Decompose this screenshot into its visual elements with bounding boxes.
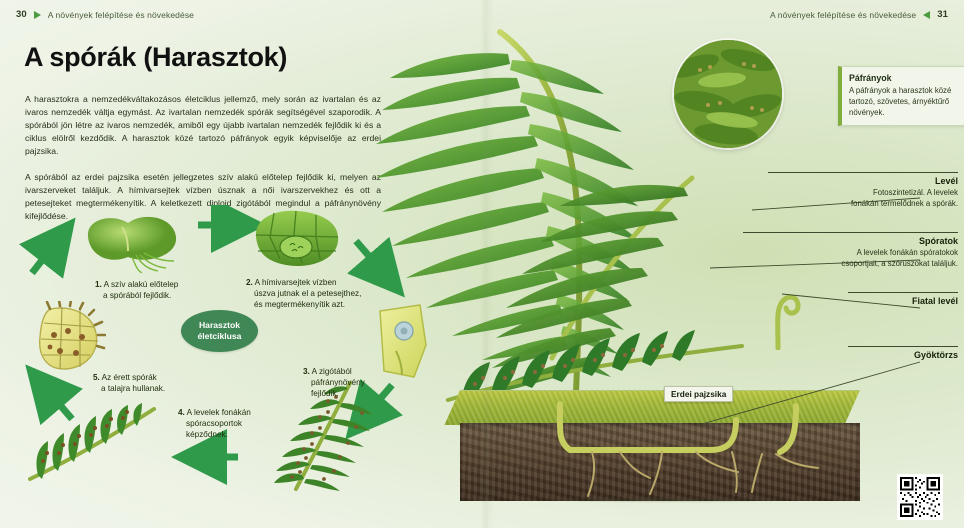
side-label-title: Gyöktörzs [848, 350, 958, 360]
step-number: 4. [178, 408, 185, 417]
step-number: 1. [95, 280, 102, 289]
step-line-3: fejlődik. [303, 389, 365, 400]
badge-line-1: Harasztok [199, 320, 240, 331]
rhizome-and-roots-icon [500, 400, 860, 510]
sporangium-illustration [30, 301, 106, 377]
cycle-step-1: 1. A szív alakú előtelep a spórából fejl… [95, 280, 178, 302]
cycle-step-3: 3. A zigótából páfránynövény fejlődik. [303, 367, 365, 399]
side-label-sporatok: Spóratok A levelek fonákán spóratokok cs… [743, 232, 958, 269]
step-number: 3. [303, 367, 310, 376]
page-number-right: 31 [937, 9, 948, 20]
side-label-desc: A levelek fonákán spóratokok csoportjait… [743, 248, 958, 269]
soil-block-cutaway [460, 390, 860, 502]
fern-crown-photo-art [674, 40, 782, 148]
page-title: A spórák (Harasztok) [24, 42, 287, 73]
side-label-desc-line1: A levelek fonákán spóratokok [857, 248, 958, 257]
step-line-1: A hímivarsejtek vízben [255, 278, 337, 287]
label-rule [743, 232, 958, 233]
side-label-title: Spóratok [743, 236, 958, 246]
running-head-left: 30 A növények felépítése és növekedése [16, 9, 194, 20]
step-line-1: A levelek fonákán [187, 408, 251, 417]
callout-text: A páfrányok a harasztok közé tartozó, sz… [849, 86, 959, 118]
step-number: 5. [93, 373, 100, 382]
fiddlehead-young-leaf-icon [748, 280, 808, 350]
side-label-fiatal-level: Fiatal levél [848, 292, 958, 306]
step-line-1: Az érett spórák [102, 373, 157, 382]
page-number-left: 30 [16, 9, 27, 20]
chevron-right-icon [34, 11, 41, 19]
side-label-desc-line1: Fotoszintetizál. A levelek [873, 188, 958, 197]
cycle-center-badge: Harasztok életciklusa [181, 310, 258, 352]
step-line-1: A szív alakú előtelep [104, 280, 179, 289]
step-line-2: spóracsoportok [178, 419, 251, 430]
chapter-title-left: A növények felépítése és növekedése [48, 10, 194, 20]
side-label-level: Levél Fotoszintetizál. A levelek fonákán… [768, 172, 958, 209]
cycle-step-4: 4. A levelek fonákán spóracsoportok képz… [178, 408, 251, 440]
side-label-desc: Fotoszintetizál. A levelek fonákán terme… [768, 188, 958, 209]
step-line-2: úszva jutnak el a petesejthez, [246, 289, 361, 300]
side-label-desc-line2: fonákán termelődnek a spórák. [851, 199, 958, 208]
step-line-1: A zigótából [312, 367, 352, 376]
running-head-right: A növények felépítése és növekedése 31 [770, 9, 948, 20]
callout-title: Páfrányok [849, 73, 959, 83]
fern-closeup-photo [674, 40, 782, 148]
fern-leaf-spores-illustration [24, 401, 160, 487]
step-line-3: és megtermékenyítik azt. [246, 300, 361, 311]
qr-code-glyph [900, 477, 940, 517]
step-line-2: a spórából fejlődik. [95, 291, 178, 302]
page-spread: 30 A növények felépítése és növekedése A… [0, 0, 964, 528]
prothallium-illustration [78, 211, 184, 273]
side-label-gyoktorzs: Gyöktörzs [848, 346, 958, 360]
badge-line-2: életciklusa [198, 331, 242, 342]
zygote-cell-illustration [374, 301, 430, 383]
step-number: 2. [246, 278, 253, 287]
label-rule [848, 292, 958, 293]
chevron-left-icon [923, 11, 930, 19]
step-line-3: képződnek. [178, 430, 251, 441]
life-cycle-diagram: Harasztok életciklusa 1. A szív alakú el… [0, 205, 470, 505]
tag-erdei-pajzsika: Erdei pajzsika [664, 386, 733, 402]
antheridium-illustration [250, 207, 342, 271]
chapter-title-right: A növények felépítése és növekedése [770, 10, 916, 20]
step-line-2: a talajra hullanak. [93, 384, 165, 395]
qr-code[interactable] [897, 474, 943, 520]
step-line-2: páfránynövény [303, 378, 365, 389]
cycle-step-2: 2. A hímivarsejtek vízben úszva jutnak e… [246, 278, 361, 310]
side-label-title: Levél [768, 176, 958, 186]
cycle-step-5: 5. Az érett spórák a talajra hullanak. [93, 373, 165, 395]
label-rule [768, 172, 958, 173]
side-label-desc-line2: csoportjait, a szóruszokat találjuk. [841, 259, 958, 268]
callout-pafranyok: Páfrányok A páfrányok a harasztok közé t… [838, 66, 964, 126]
label-rule [848, 346, 958, 347]
side-label-title: Fiatal levél [848, 296, 958, 306]
